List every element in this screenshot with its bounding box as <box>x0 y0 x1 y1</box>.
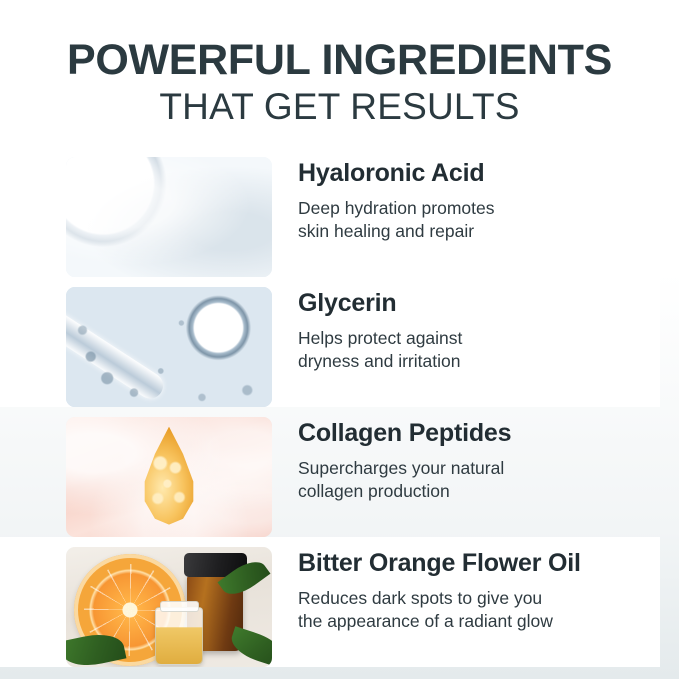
list-item: Bitter Orange Flower Oil Reduces dark sp… <box>0 537 660 667</box>
ingredient-description: Helps protect against dryness and irrita… <box>298 327 660 374</box>
list-item: Glycerin Helps protect against dryness a… <box>0 277 660 407</box>
description-line-2: skin healing and repair <box>298 220 679 244</box>
orange-oil-art <box>66 547 272 667</box>
heading-line-primary: POWERFUL INGREDIENTS <box>0 38 679 84</box>
clear-bubbles-photo <box>66 157 272 277</box>
description-line-1: Deep hydration promotes <box>298 197 679 221</box>
amber-droplet-molecules-photo <box>66 417 272 537</box>
description-line-2: collagen production <box>298 480 679 504</box>
ingredient-description: Reduces dark spots to give you the appea… <box>298 587 660 634</box>
description-line-1: Supercharges your natural <box>298 457 679 481</box>
ingredient-text-block: Collagen Peptides Supercharges your natu… <box>298 420 679 504</box>
list-item: Hyaloronic Acid Deep hydration promotes … <box>0 147 679 277</box>
ingredient-text-block: Bitter Orange Flower Oil Reduces dark sp… <box>298 550 660 634</box>
ingredient-description: Supercharges your natural collagen produ… <box>298 457 679 504</box>
ingredients-infographic: POWERFUL INGREDIENTS THAT GET RESULTS Hy… <box>0 0 679 679</box>
description-line-1: Helps protect against <box>298 327 660 351</box>
ingredient-title: Glycerin <box>298 290 660 318</box>
pipette-gel-droplets-photo <box>66 287 272 407</box>
page-title: POWERFUL INGREDIENTS THAT GET RESULTS <box>0 38 679 128</box>
ingredient-text-block: Hyaloronic Acid Deep hydration promotes … <box>298 160 679 244</box>
ingredient-list: Hyaloronic Acid Deep hydration promotes … <box>0 147 679 667</box>
collagen-droplet-art <box>66 417 272 537</box>
pipette-droplets-art <box>66 287 272 407</box>
ingredient-title: Hyaloronic Acid <box>298 160 679 188</box>
ingredient-title: Collagen Peptides <box>298 420 679 448</box>
heading-line-secondary: THAT GET RESULTS <box>0 86 679 129</box>
clear-jar-shape <box>155 607 203 665</box>
orange-slice-oil-bottles-photo <box>66 547 272 667</box>
ingredient-text-block: Glycerin Helps protect against dryness a… <box>298 290 660 374</box>
description-line-2: dryness and irritation <box>298 350 660 374</box>
description-line-1: Reduces dark spots to give you <box>298 587 660 611</box>
droplet-shape <box>137 427 201 525</box>
ingredient-description: Deep hydration promotes skin healing and… <box>298 197 679 244</box>
ingredient-title: Bitter Orange Flower Oil <box>298 550 660 578</box>
bubbles-art <box>66 157 272 277</box>
description-line-2: the appearance of a radiant glow <box>298 610 660 634</box>
leaf-shape <box>228 626 272 667</box>
list-item: Collagen Peptides Supercharges your natu… <box>0 407 679 537</box>
